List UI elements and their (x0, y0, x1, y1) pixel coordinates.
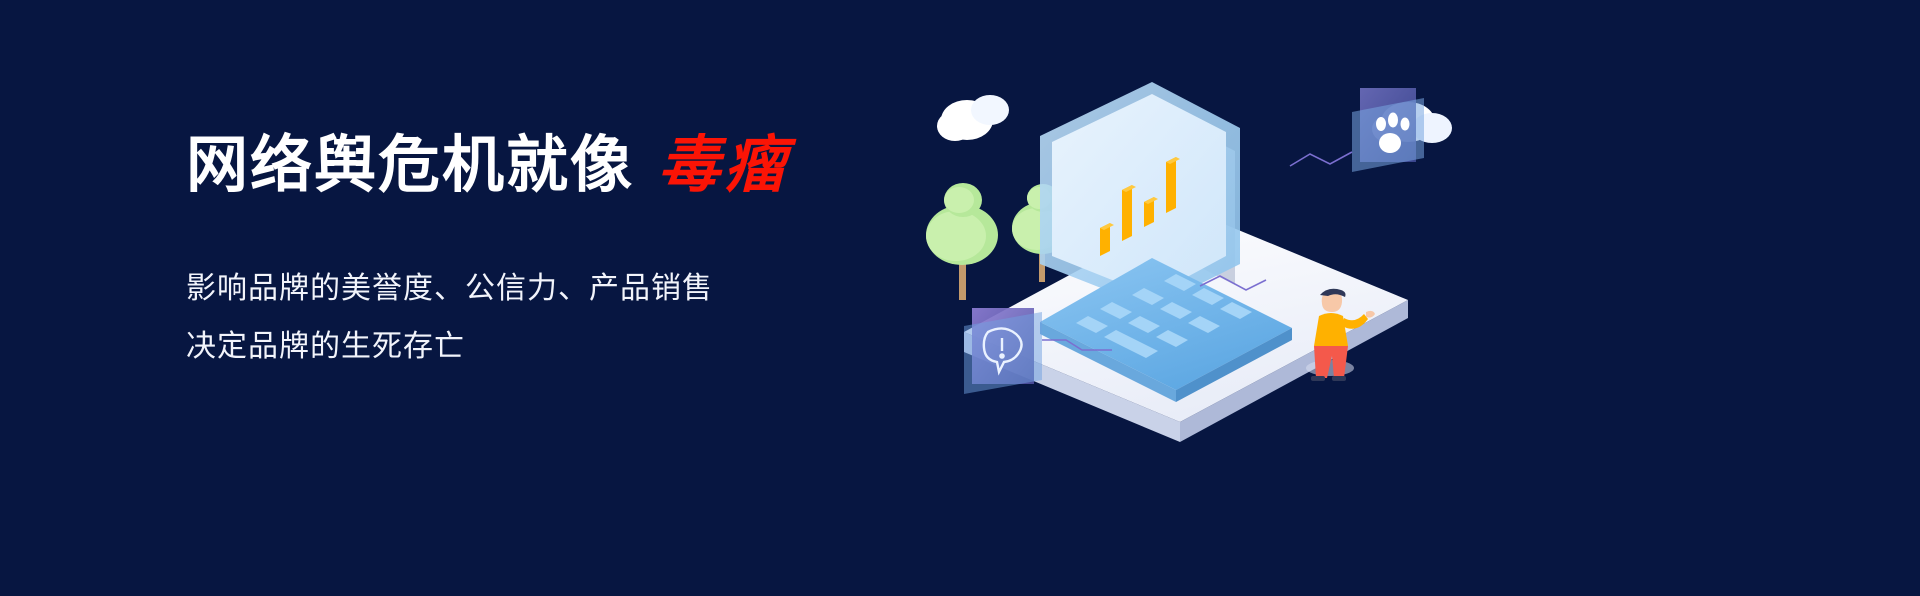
paw-print-card (1352, 88, 1424, 172)
banner-copy: 网络舆危机就像毒瘤 影响品牌的美誉度、公信力、产品销售 决定品牌的生死存亡 (186, 128, 886, 376)
tree-left (926, 183, 998, 300)
subtitle-line-2: 决定品牌的生死存亡 (186, 318, 886, 376)
cloud-left-icon (937, 95, 1009, 141)
subtitle-line-1: 影响品牌的美誉度、公信力、产品销售 (186, 260, 886, 318)
headline-main: 网络舆危机就像 (186, 131, 634, 200)
subtitle-group: 影响品牌的美誉度、公信力、产品销售 决定品牌的生死存亡 (186, 260, 886, 376)
hero-illustration (860, 50, 1480, 470)
headline-accent: 毒瘤 (634, 131, 790, 200)
page-title: 网络舆危机就像毒瘤 (186, 128, 886, 204)
hero-banner: 网络舆危机就像毒瘤 影响品牌的美誉度、公信力、产品销售 决定品牌的生死存亡 (0, 0, 1920, 596)
alert-card (964, 308, 1042, 394)
